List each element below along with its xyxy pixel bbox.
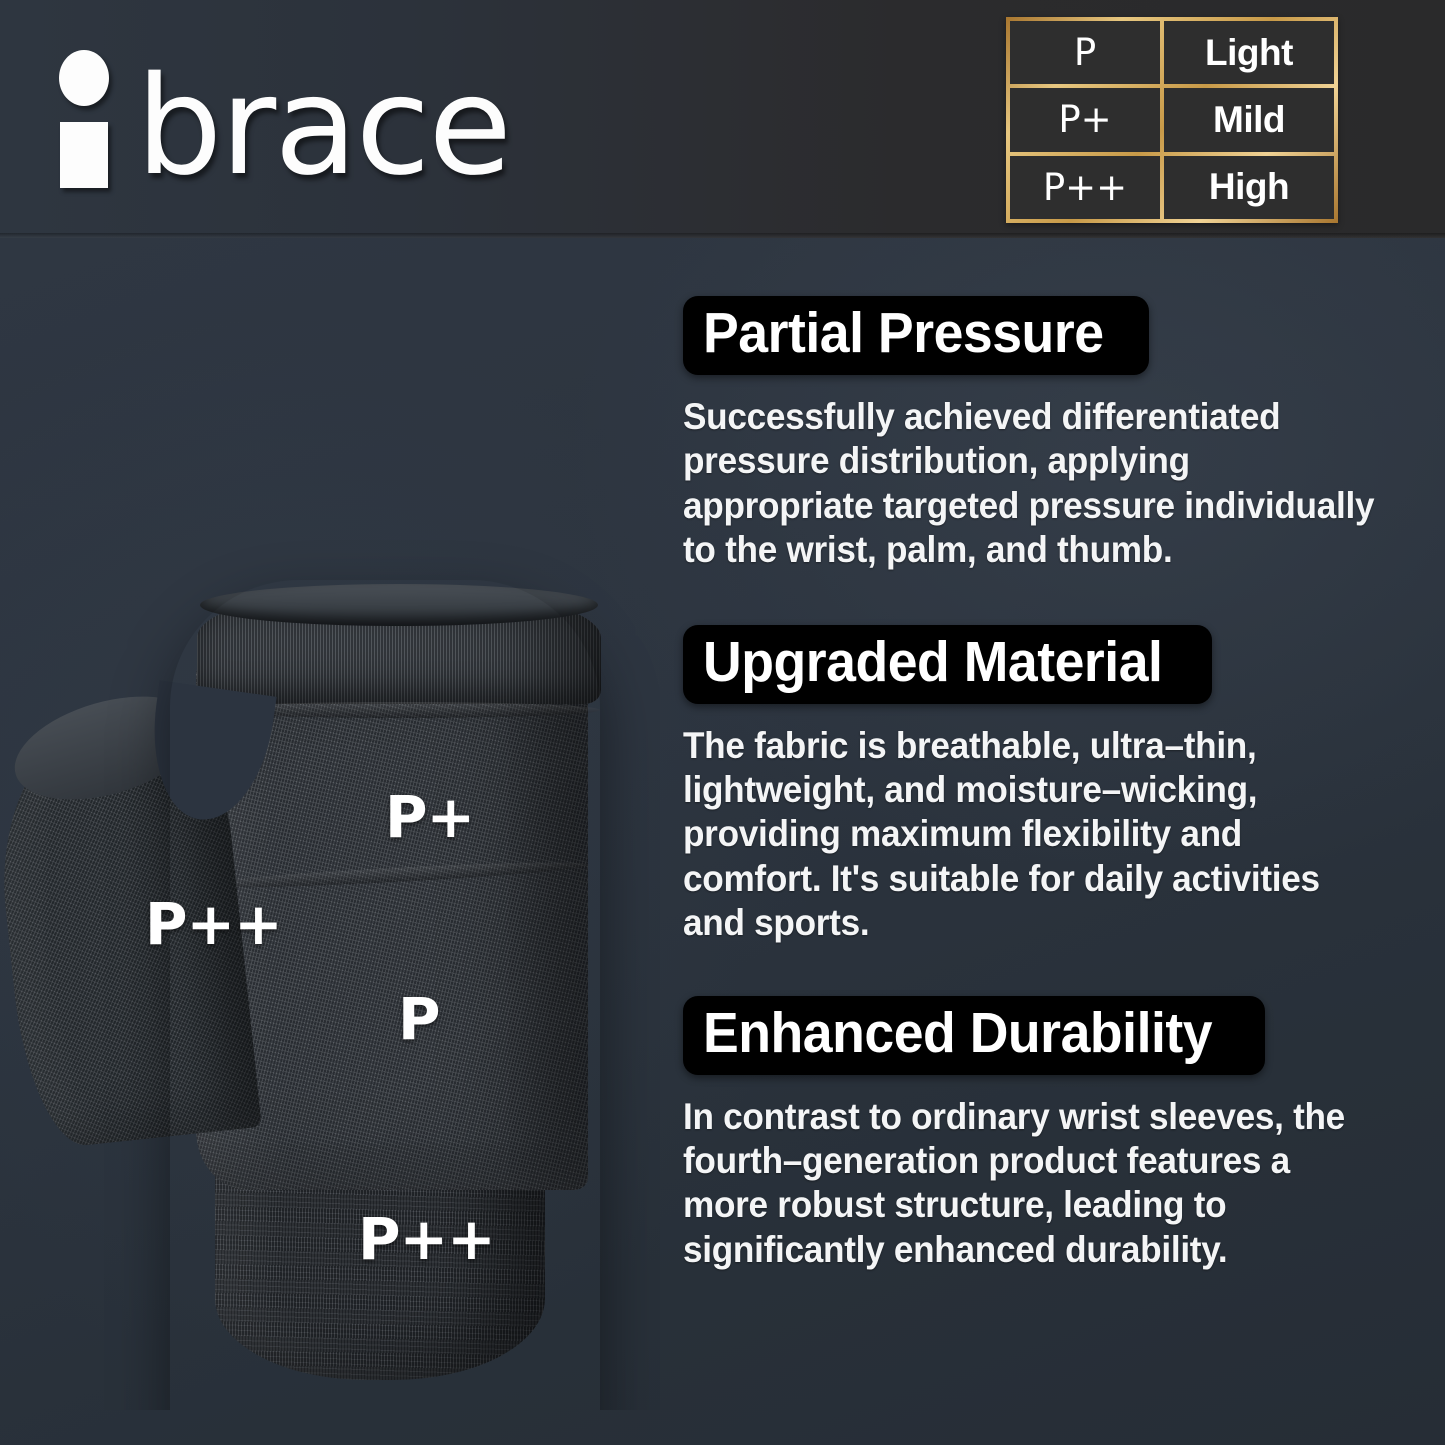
feature-title-pill-2: Enhanced Durability [683,996,1265,1075]
feature-title-1: Upgraded Material [703,634,1162,691]
pressure-label-wrist-middle: P++ [358,1210,495,1268]
logo-i-dot-icon [59,50,109,106]
logo-i-mark [56,38,112,188]
legend-code-1: P+ [1010,88,1160,151]
feature-body-1: The fabric is breathable, ultra–thin, li… [683,724,1377,946]
brand-logo: brace [56,38,510,188]
product-photo: P+ P++ P P++ P+ [0,250,660,1410]
feature-title-0: Partial Pressure [703,305,1104,362]
legend-code-2: P++ [1010,156,1160,219]
feature-enhanced-durability: Enhanced Durability In contrast to ordin… [683,996,1383,1273]
feature-body-0: Successfully achieved differentiated pre… [683,395,1377,573]
feature-upgraded-material: Upgraded Material The fabric is breathab… [683,625,1383,946]
pressure-legend-table: P Light P+ Mild P++ High [1006,17,1338,223]
legend-code-0: P [1010,21,1160,84]
logo-i-stem-icon [60,122,108,188]
legend-label-2: High [1164,156,1334,219]
pressure-label-thumb: P++ [145,895,282,953]
logo-wordmark: brace [136,72,510,188]
feature-title-pill-0: Partial Pressure [683,296,1149,375]
feature-title-pill-1: Upgraded Material [683,625,1212,704]
sleeve-opening-rim [200,584,598,626]
legend-label-1: Mild [1164,88,1334,151]
pressure-label-palm: P [398,990,440,1048]
infographic-page: brace P Light P+ Mild P++ High P+ P++ P … [0,0,1445,1445]
pressure-label-wrist-top: P+ [385,788,474,846]
feature-title-2: Enhanced Durability [703,1005,1212,1062]
feature-partial-pressure: Partial Pressure Successfully achieved d… [683,296,1383,573]
feature-body-2: In contrast to ordinary wrist sleeves, t… [683,1095,1377,1273]
legend-grid: P Light P+ Mild P++ High [1010,21,1334,219]
legend-label-0: Light [1164,21,1334,84]
feature-list: Partial Pressure Successfully achieved d… [683,296,1383,1318]
